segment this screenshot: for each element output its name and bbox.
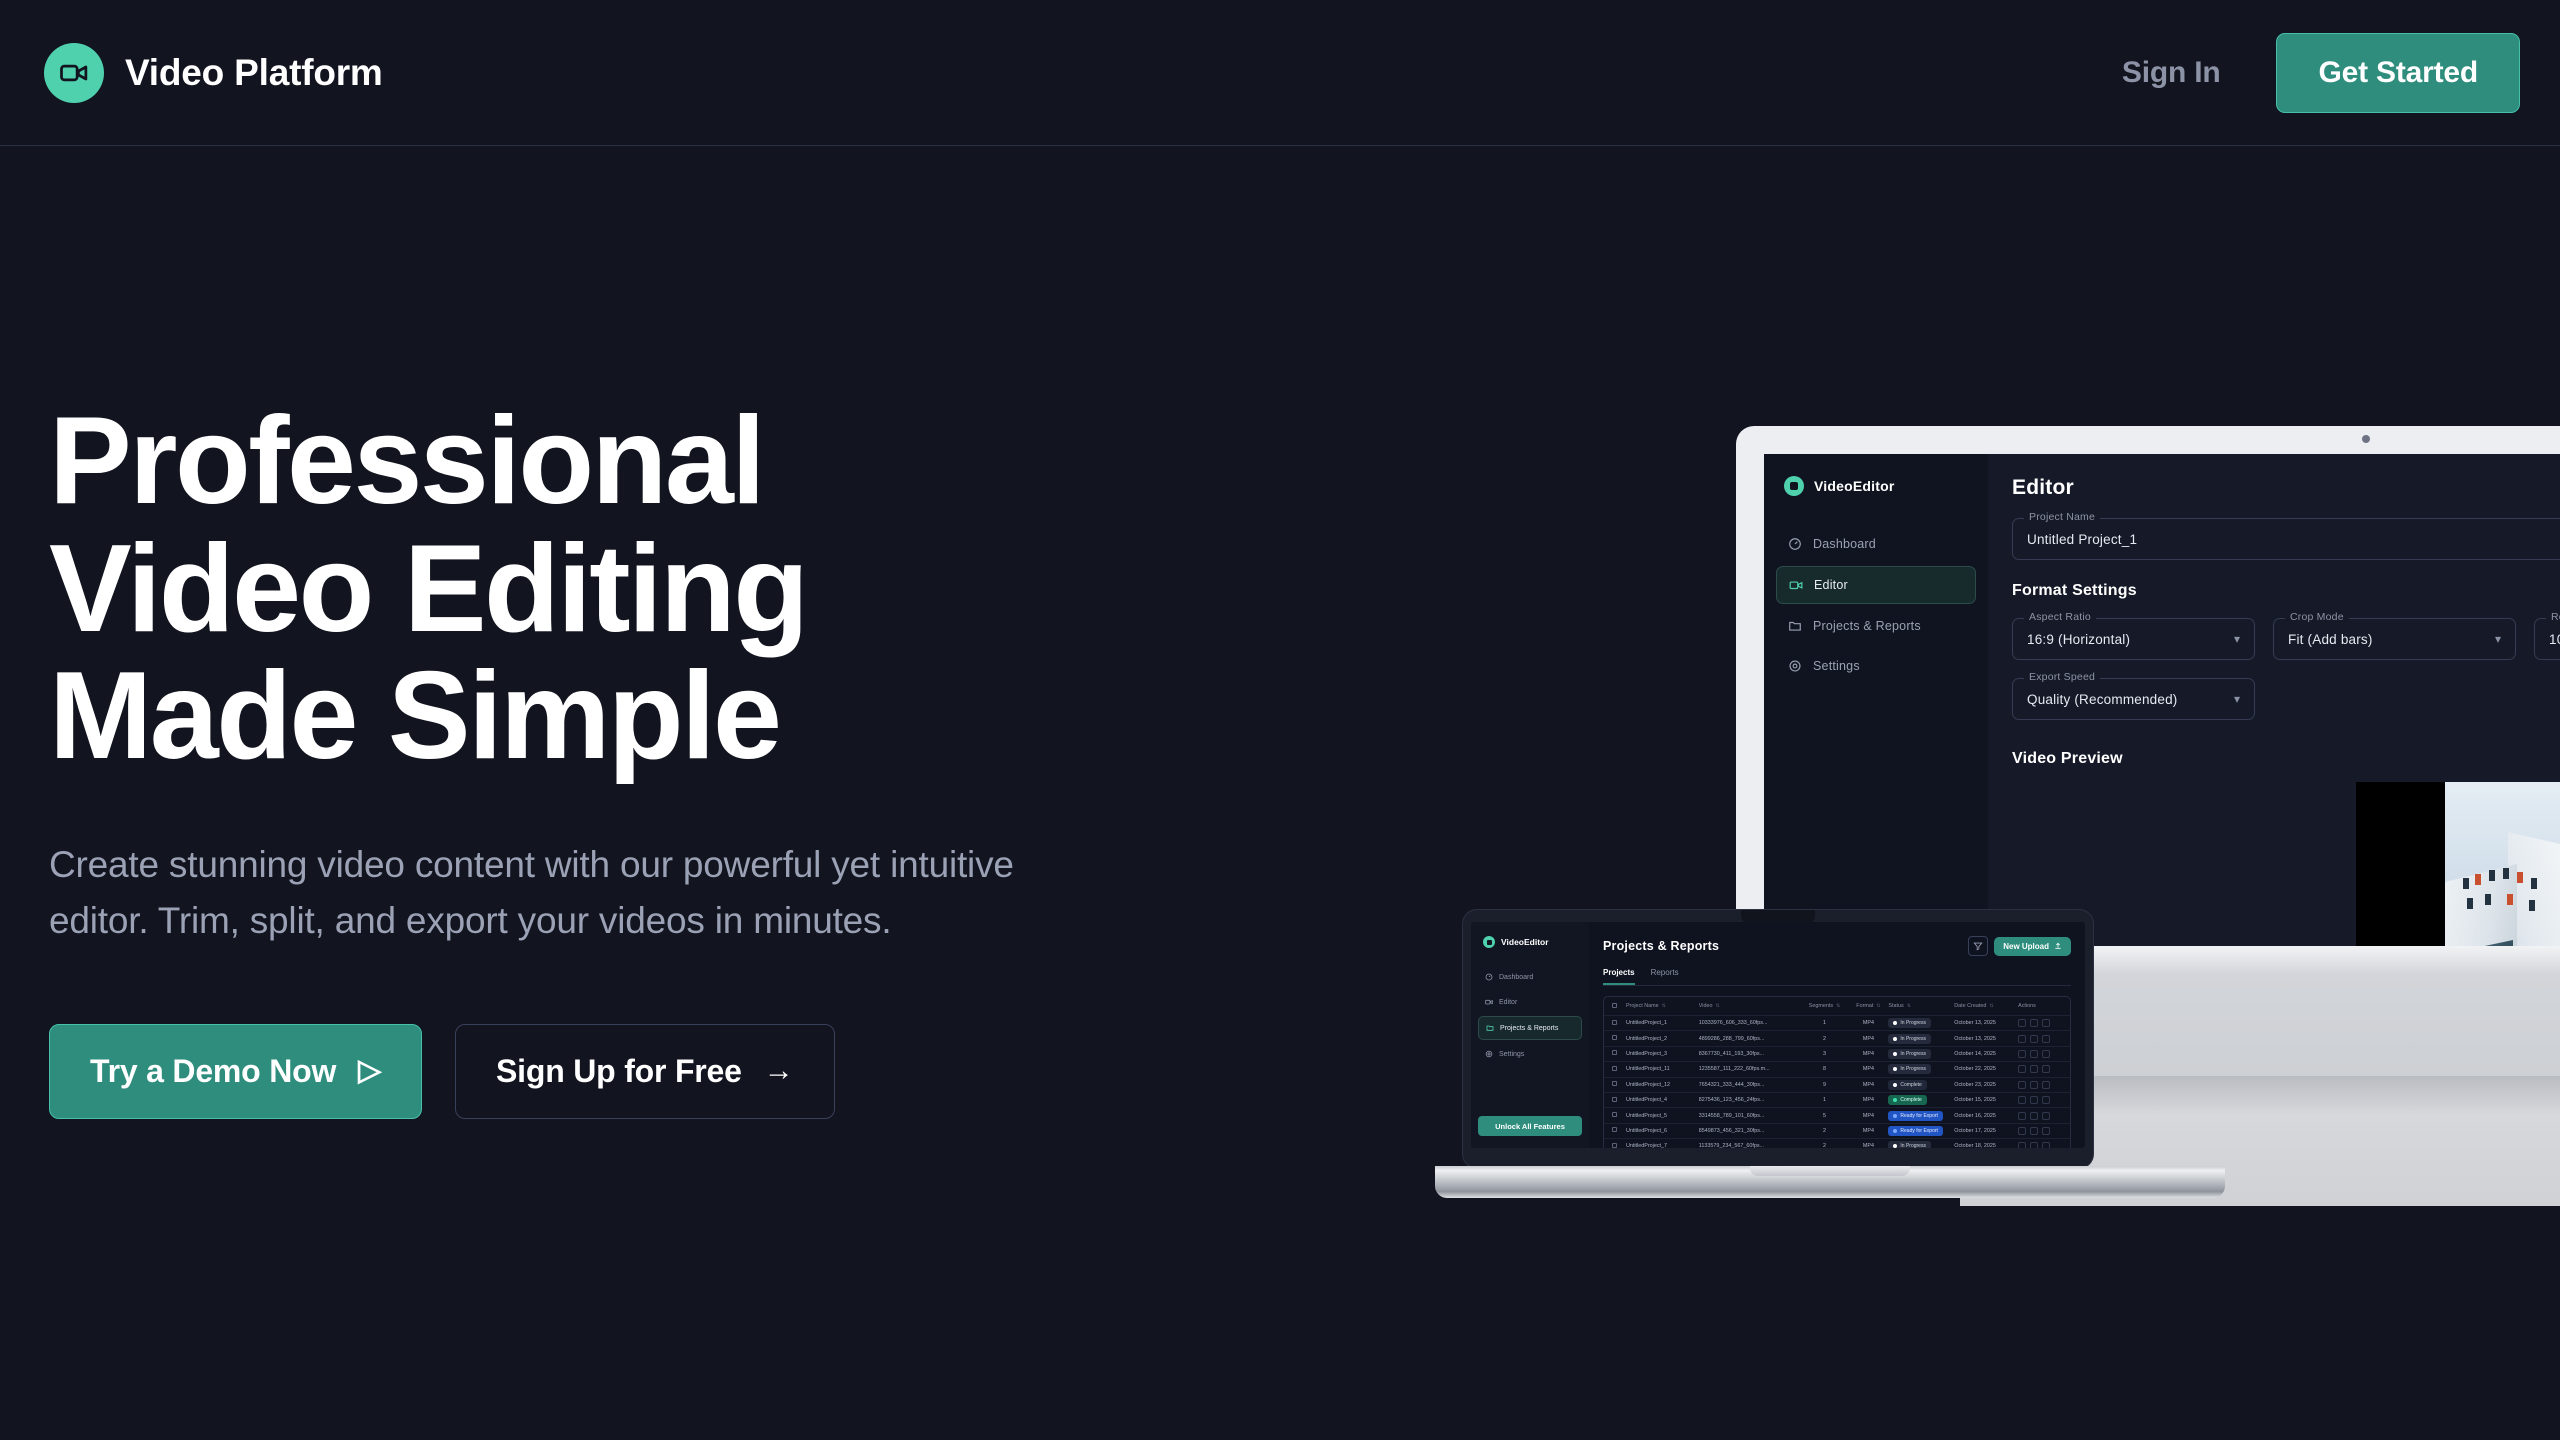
video-preview-title: Video Preview: [2012, 750, 2123, 768]
hero-subtitle: Create stunning video content with our p…: [49, 837, 1109, 949]
cell-segments: 3: [1801, 1051, 1849, 1057]
delete-icon[interactable]: [2042, 1050, 2050, 1058]
delete-icon[interactable]: [2042, 1127, 2050, 1135]
video-camera-icon: [44, 43, 104, 103]
tab-projects[interactable]: Projects: [1603, 968, 1635, 985]
project-name-field[interactable]: Project Name Untitled Project_1: [2012, 518, 2560, 560]
cell-video: 4899286_288_799_60fps...: [1699, 1036, 1801, 1042]
cell-segments: 2: [1801, 1128, 1849, 1134]
sign-up-label: Sign Up for Free: [496, 1053, 742, 1090]
hero-section: Professional Video Editing Made Simple C…: [49, 398, 1109, 1119]
cell-video: 10333976_606_333_60fps...: [1699, 1020, 1801, 1026]
desktop-monitor: VideoEditor Dashboard Editor: [1736, 426, 2560, 946]
row-checkbox[interactable]: [1604, 1020, 1626, 1027]
column-video[interactable]: Video⇅: [1699, 1003, 1801, 1009]
edit-icon[interactable]: [2018, 1065, 2026, 1073]
sidebar-item-projects-reports[interactable]: Projects & Reports: [1776, 608, 1976, 644]
status-badge: In Progress: [1888, 1049, 1931, 1059]
cell-segments: 8: [1801, 1066, 1849, 1072]
monitor-screen: VideoEditor Dashboard Editor: [1764, 454, 2560, 946]
crop-mode-select[interactable]: Crop Mode Fit (Add bars) ▾: [2273, 618, 2516, 660]
cell-project-name: UntitledProject_3: [1626, 1051, 1699, 1057]
column-actions: Actions: [2018, 1003, 2070, 1009]
row-checkbox[interactable]: [1604, 1097, 1626, 1104]
export-icon[interactable]: [2030, 1065, 2038, 1073]
delete-icon[interactable]: [2042, 1081, 2050, 1089]
aspect-ratio-select[interactable]: Aspect Ratio 16:9 (Horizontal) ▾: [2012, 618, 2255, 660]
sidebar-item-label: Dashboard: [1813, 537, 1876, 551]
status-badge: Complete: [1888, 1095, 1926, 1105]
delete-icon[interactable]: [2042, 1096, 2050, 1104]
sort-icon: ⇅: [1876, 1003, 1880, 1009]
cell-status: In Progress: [1888, 1034, 1954, 1044]
project-name-label: Project Name: [2024, 511, 2100, 523]
sidebar-item-label: Editor: [1814, 578, 1848, 592]
cell-date-created: October 13, 2025: [1954, 1020, 2018, 1026]
sidebar-item-projects-reports[interactable]: Projects & Reports: [1478, 1016, 1582, 1040]
sign-up-button[interactable]: Sign Up for Free →: [455, 1024, 835, 1119]
cell-format: MP4: [1848, 1128, 1888, 1134]
export-icon[interactable]: [2030, 1096, 2038, 1104]
editor-brand-name: VideoEditor: [1814, 478, 1895, 494]
laptop-trackpad-notch: [1750, 1166, 1910, 1176]
column-segments[interactable]: Segments⇅: [1801, 1003, 1849, 1009]
cell-actions: [2018, 1096, 2070, 1104]
table-row[interactable]: UntitledProject_48275436_123_456_24fps..…: [1604, 1093, 2070, 1108]
laptop-chin: [1471, 1148, 2085, 1168]
chevron-down-icon: ▾: [2234, 692, 2240, 706]
edit-icon[interactable]: [2018, 1112, 2026, 1120]
sort-icon: ⇅: [1716, 1003, 1720, 1009]
projects-sidebar: VideoEditor Dashboard Editor: [1471, 922, 1589, 1148]
table-row[interactable]: UntitledProject_68549873_456_321_30fps..…: [1604, 1124, 2070, 1139]
cell-actions: [2018, 1081, 2070, 1089]
row-checkbox[interactable]: [1604, 1035, 1626, 1042]
filter-funnel-icon[interactable]: [1968, 936, 1988, 956]
unlock-all-features-button[interactable]: Unlock All Features: [1478, 1116, 1582, 1136]
edit-icon[interactable]: [2018, 1127, 2026, 1135]
sidebar-item-settings[interactable]: Settings: [1776, 648, 1976, 684]
cell-status: In Progress: [1888, 1141, 1954, 1148]
cell-project-name: UntitledProject_5: [1626, 1113, 1699, 1119]
editor-brand: VideoEditor: [1764, 476, 1988, 496]
edit-icon[interactable]: [2018, 1096, 2026, 1104]
laptop-screen: VideoEditor Dashboard Editor: [1471, 922, 2085, 1148]
cell-actions: [2018, 1050, 2070, 1058]
device-mockups: VideoEditor Dashboard Editor: [1330, 380, 2560, 1220]
cell-project-name: UntitledProject_11: [1626, 1066, 1699, 1072]
sort-icon: ⇅: [1989, 1003, 1993, 1009]
export-icon[interactable]: [2030, 1019, 2038, 1027]
sidebar-item-label: Projects & Reports: [1500, 1025, 1558, 1032]
cell-format: MP4: [1848, 1097, 1888, 1103]
sort-icon: ⇅: [1836, 1003, 1840, 1009]
video-frame-image: [2445, 782, 2560, 946]
export-speed-select[interactable]: Export Speed Quality (Recommended) ▾: [2012, 678, 2255, 720]
cell-project-name: UntitledProject_4: [1626, 1097, 1699, 1103]
format-field-row-1: Aspect Ratio 16:9 (Horizontal) ▾ Crop Mo…: [2012, 600, 2560, 660]
resolution-select[interactable]: Resolution 1080p (1920x1080) ▾: [2534, 618, 2560, 660]
edit-icon[interactable]: [2018, 1081, 2026, 1089]
cell-segments: 1: [1801, 1020, 1849, 1026]
arrow-right-icon: →: [764, 1056, 794, 1086]
sidebar-item-label: Projects & Reports: [1813, 619, 1921, 633]
editor-main: Editor Save Exp Project Name Untitle: [1988, 454, 2560, 946]
format-settings-title: Format Settings: [2012, 582, 2560, 600]
cell-project-name: UntitledProject_12: [1626, 1082, 1699, 1088]
cell-actions: [2018, 1112, 2070, 1120]
chevron-down-icon: ▾: [2495, 632, 2501, 646]
get-started-button[interactable]: Get Started: [2276, 33, 2520, 113]
sidebar-item-dashboard[interactable]: Dashboard: [1776, 526, 1976, 562]
upload-icon: [2054, 942, 2062, 950]
status-badge: In Progress: [1888, 1034, 1931, 1044]
cell-video: 8275436_123_456_24fps...: [1699, 1097, 1801, 1103]
cell-segments: 2: [1801, 1036, 1849, 1042]
cell-date-created: October 13, 2025: [1954, 1036, 2018, 1042]
cell-video: 8367730_411_193_30fps...: [1699, 1051, 1801, 1057]
sidebar-item-settings[interactable]: Settings: [1478, 1043, 1582, 1065]
table-row[interactable]: UntitledProject_110333976_606_333_60fps.…: [1604, 1016, 2070, 1031]
editor-sidebar: VideoEditor Dashboard Editor: [1764, 454, 1988, 946]
try-demo-label: Try a Demo Now: [90, 1053, 336, 1090]
crop-mode-label: Crop Mode: [2285, 611, 2349, 623]
editor-page-title: Editor: [2012, 476, 2074, 500]
sidebar-item-editor[interactable]: Editor: [1776, 566, 1976, 604]
aspect-ratio-value: 16:9 (Horizontal): [2027, 632, 2130, 647]
row-checkbox[interactable]: [1604, 1112, 1626, 1119]
delete-icon[interactable]: [2042, 1035, 2050, 1043]
status-badge: In Progress: [1888, 1018, 1931, 1028]
status-badge: In Progress: [1888, 1064, 1931, 1074]
sidebar-item-label: Editor: [1499, 999, 1517, 1006]
table-row[interactable]: UntitledProject_38367730_411_193_30fps..…: [1604, 1047, 2070, 1062]
page-title: Professional Video Editing Made Simple: [49, 398, 1109, 781]
export-speed-value: Quality (Recommended): [2027, 692, 2178, 707]
videoeditor-logo-icon: [1483, 936, 1495, 948]
cell-format: MP4: [1848, 1066, 1888, 1072]
hero-cta-row: Try a Demo Now ▷ Sign Up for Free →: [49, 1024, 1109, 1119]
projects-header-actions: New Upload: [1968, 936, 2071, 956]
cell-format: MP4: [1848, 1082, 1888, 1088]
projects-brand-name: VideoEditor: [1501, 937, 1549, 947]
play-triangle-icon: ▷: [358, 1056, 381, 1086]
cell-actions: [2018, 1127, 2070, 1135]
sort-icon: ⇅: [1907, 1003, 1911, 1009]
laptop-lid: VideoEditor Dashboard Editor: [1463, 910, 2093, 1168]
cell-date-created: October 14, 2025: [1954, 1051, 2018, 1057]
table-header-row: Project Name⇅ Video⇅ Segments⇅ Format⇅ S…: [1604, 997, 2070, 1016]
column-date-created[interactable]: Date Created⇅: [1954, 1003, 2018, 1009]
projects-table: Project Name⇅ Video⇅ Segments⇅ Format⇅ S…: [1603, 996, 2071, 1148]
export-speed-label: Export Speed: [2024, 671, 2100, 683]
column-project-name[interactable]: Project Name⇅: [1626, 1003, 1699, 1009]
row-checkbox[interactable]: [1604, 1050, 1626, 1057]
cell-status: In Progress: [1888, 1064, 1954, 1074]
projects-header: Projects & Reports New Upload: [1603, 936, 2071, 956]
cell-date-created: October 17, 2025: [1954, 1128, 2018, 1134]
row-checkbox[interactable]: [1604, 1081, 1626, 1088]
status-badge: Complete: [1888, 1080, 1926, 1090]
edit-icon[interactable]: [2018, 1019, 2026, 1027]
cell-status: Complete: [1888, 1095, 1954, 1105]
resolution-label: Resolution: [2546, 611, 2560, 623]
export-icon[interactable]: [2030, 1035, 2038, 1043]
projects-brand: VideoEditor: [1471, 936, 1589, 948]
laptop-mockup: VideoEditor Dashboard Editor: [1435, 910, 2225, 1220]
cell-date-created: October 16, 2025: [1954, 1113, 2018, 1119]
tab-reports[interactable]: Reports: [1651, 968, 1679, 985]
new-upload-label: New Upload: [2003, 942, 2049, 951]
video-preview-header: Video Preview Video player size: [2012, 750, 2560, 768]
cell-date-created: October 22, 2025: [1954, 1066, 2018, 1072]
sort-icon: ⇅: [1662, 1003, 1666, 1009]
export-icon[interactable]: [2030, 1112, 2038, 1120]
cell-status: Ready for Export: [1888, 1126, 1954, 1136]
cell-status: Complete: [1888, 1080, 1954, 1090]
aspect-ratio-label: Aspect Ratio: [2024, 611, 2096, 623]
cell-actions: [2018, 1065, 2070, 1073]
cell-status: Ready for Export: [1888, 1111, 1954, 1121]
projects-main: Projects & Reports New Upload: [1589, 922, 2085, 1148]
table-row[interactable]: UntitledProject_53314558_789_101_60fps..…: [1604, 1108, 2070, 1123]
table-row[interactable]: UntitledProject_71133579_234_567_60fps..…: [1604, 1139, 2070, 1148]
cell-project-name: UntitledProject_1: [1626, 1020, 1699, 1026]
cell-format: MP4: [1848, 1113, 1888, 1119]
videoeditor-logo-icon: [1784, 476, 1804, 496]
delete-icon[interactable]: [2042, 1065, 2050, 1073]
projects-page-title: Projects & Reports: [1603, 939, 1719, 953]
try-demo-button[interactable]: Try a Demo Now ▷: [49, 1024, 422, 1119]
brand-logo[interactable]: Video Platform: [44, 43, 383, 103]
cell-video: 3314558_789_101_60fps...: [1699, 1113, 1801, 1119]
table-row[interactable]: UntitledProject_24899286_288_799_60fps..…: [1604, 1031, 2070, 1046]
sign-in-link[interactable]: Sign In: [2122, 56, 2221, 90]
project-name-value: Untitled Project_1: [2027, 532, 2137, 547]
landing-page: Video Platform Sign In Get Started Profe…: [0, 0, 2560, 1440]
cell-status: In Progress: [1888, 1049, 1954, 1059]
edit-icon[interactable]: [2018, 1050, 2026, 1058]
row-checkbox[interactable]: [1604, 1127, 1626, 1134]
column-format[interactable]: Format⇅: [1848, 1003, 1888, 1009]
row-checkbox[interactable]: [1604, 1066, 1626, 1073]
export-icon[interactable]: [2030, 1081, 2038, 1089]
sidebar-item-editor[interactable]: Editor: [1478, 991, 1582, 1013]
editor-nav: Dashboard Editor Projects & Reports: [1764, 526, 1988, 684]
table-row[interactable]: UntitledProject_111235587_111_222_60fps.…: [1604, 1062, 2070, 1077]
sidebar-item-dashboard[interactable]: Dashboard: [1478, 966, 1582, 988]
cell-format: MP4: [1848, 1051, 1888, 1057]
cell-project-name: UntitledProject_6: [1626, 1128, 1699, 1134]
sidebar-item-label: Settings: [1499, 1051, 1524, 1058]
projects-tabs: Projects Reports: [1603, 968, 2071, 986]
status-badge: In Progress: [1888, 1141, 1931, 1148]
cell-status: In Progress: [1888, 1018, 1954, 1028]
cell-segments: 1: [1801, 1097, 1849, 1103]
projects-nav: Dashboard Editor Projects & Reports: [1471, 966, 1589, 1065]
chevron-down-icon: ▾: [2234, 632, 2240, 646]
status-badge: Ready for Export: [1888, 1111, 1943, 1121]
brand-name: Video Platform: [125, 52, 383, 94]
sidebar-item-label: Settings: [1813, 659, 1860, 673]
resolution-value: 1080p (1920x1080): [2549, 632, 2560, 647]
format-field-row-2: Export Speed Quality (Recommended) ▾: [2012, 660, 2560, 720]
site-header: Video Platform Sign In Get Started: [0, 0, 2560, 146]
cell-project-name: UntitledProject_2: [1626, 1036, 1699, 1042]
export-icon[interactable]: [2030, 1050, 2038, 1058]
cell-format: MP4: [1848, 1036, 1888, 1042]
export-icon[interactable]: [2030, 1127, 2038, 1135]
header-actions: Sign In Get Started: [2122, 33, 2520, 113]
status-badge: Ready for Export: [1888, 1126, 1943, 1136]
cell-video: 1235587_111_222_60fps.m...: [1699, 1066, 1801, 1072]
edit-icon[interactable]: [2018, 1035, 2026, 1043]
cell-date-created: October 15, 2025: [1954, 1097, 2018, 1103]
cell-segments: 5: [1801, 1113, 1849, 1119]
cell-format: MP4: [1848, 1020, 1888, 1026]
delete-icon[interactable]: [2042, 1112, 2050, 1120]
cell-actions: [2018, 1035, 2070, 1043]
table-row[interactable]: UntitledProject_127654321_333_444_30fps.…: [1604, 1078, 2070, 1093]
cell-video: 8549873_456_321_30fps...: [1699, 1128, 1801, 1134]
column-status[interactable]: Status⇅: [1888, 1003, 1954, 1009]
delete-icon[interactable]: [2042, 1019, 2050, 1027]
cell-actions: [2018, 1019, 2070, 1027]
sidebar-item-label: Dashboard: [1499, 974, 1533, 981]
monitor-camera-icon: [2362, 435, 2370, 443]
new-upload-button[interactable]: New Upload: [1994, 937, 2071, 956]
select-all-checkbox[interactable]: [1604, 1003, 1626, 1010]
editor-topbar: Editor: [2012, 476, 2560, 500]
cell-segments: 9: [1801, 1082, 1849, 1088]
crop-mode-value: Fit (Add bars): [2288, 632, 2373, 647]
cell-date-created: October 23, 2025: [1954, 1082, 2018, 1088]
video-player[interactable]: [2356, 782, 2560, 946]
cell-video: 7654321_333_444_30fps...: [1699, 1082, 1801, 1088]
